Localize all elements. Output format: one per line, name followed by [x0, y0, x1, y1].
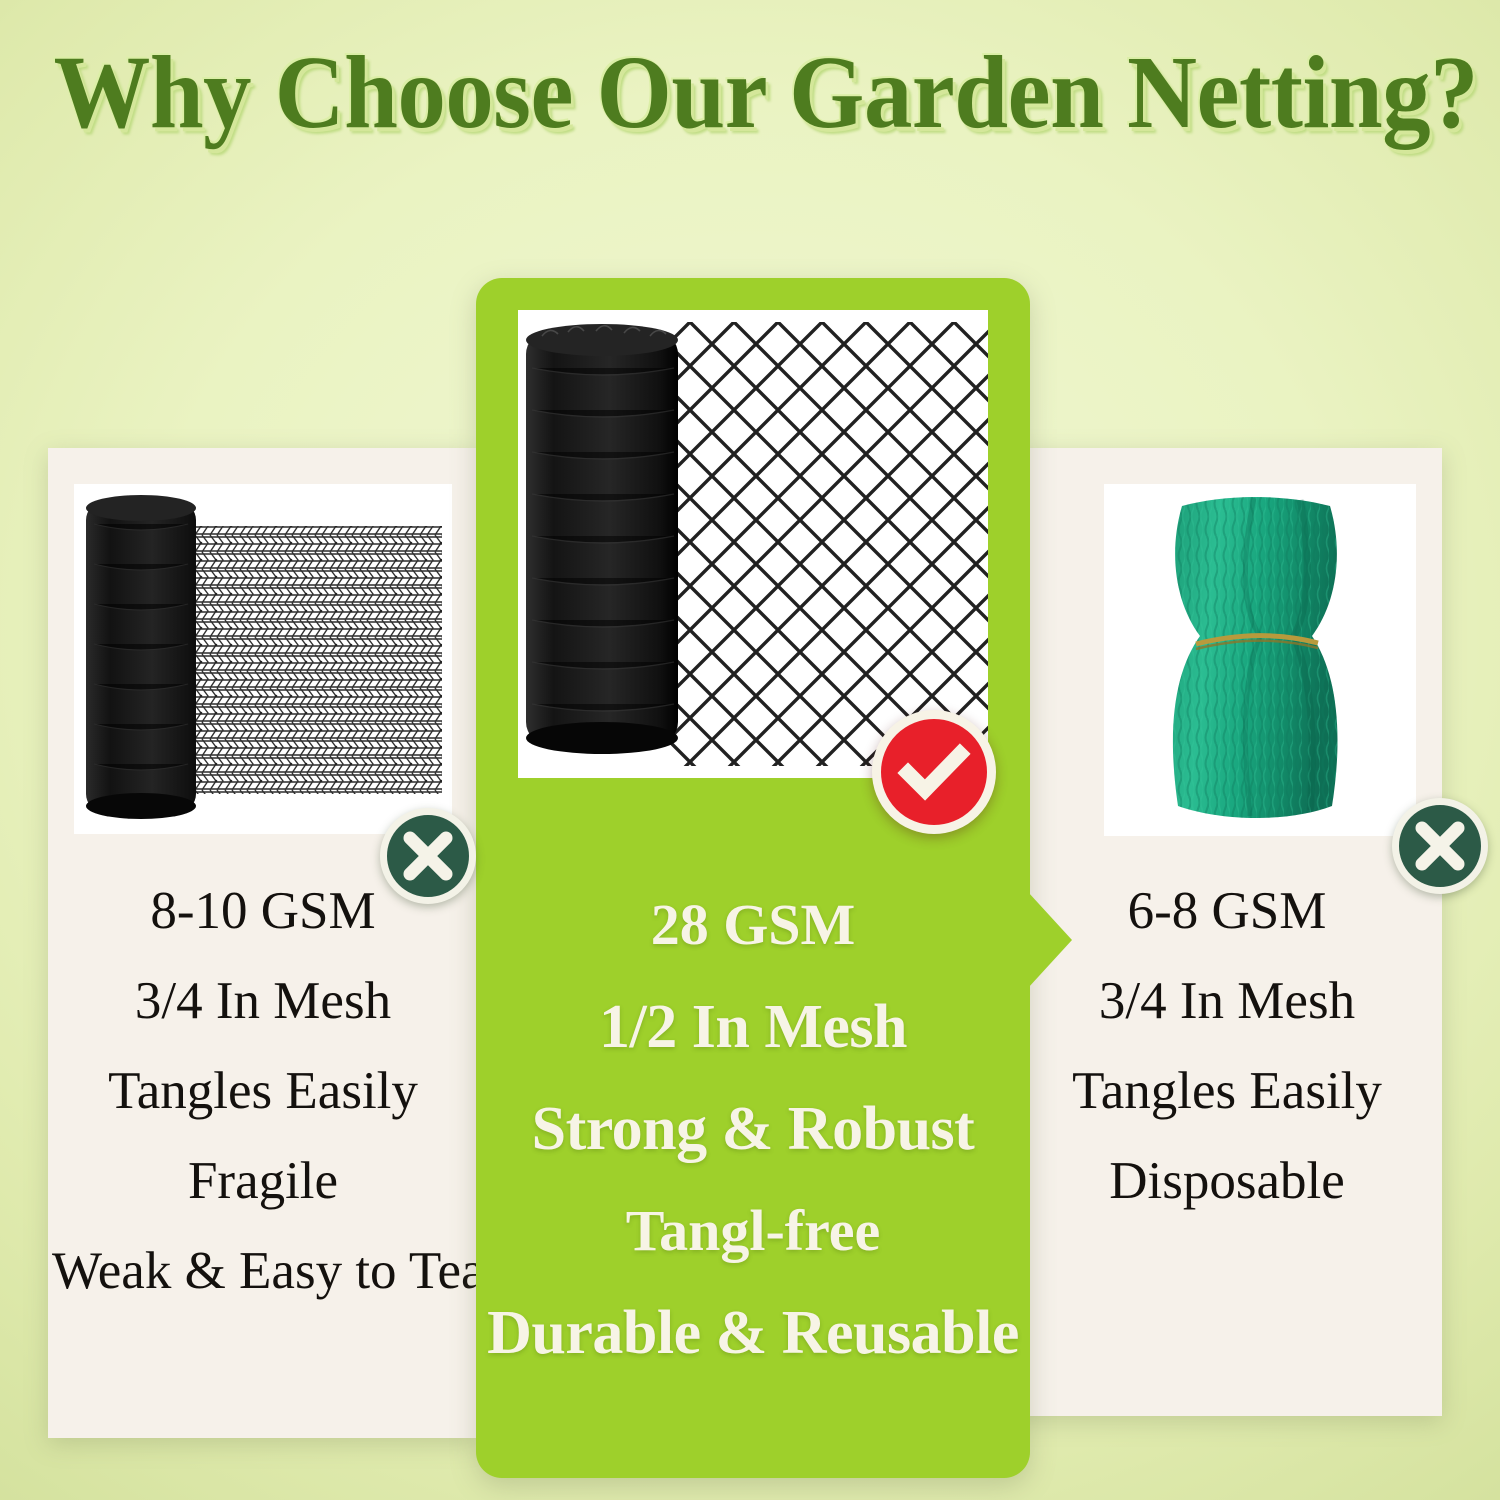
spec-line: Tangles Easily — [52, 1046, 474, 1136]
spec-line: Tangles Easily — [1018, 1046, 1436, 1136]
our-product-spec-list: 28 GSM 1/2 In Mesh Strong & Robust Tangl… — [476, 874, 1030, 1384]
x-mark-icon — [399, 827, 457, 885]
check-mark-icon — [894, 732, 974, 812]
x-mark-badge-right — [1392, 798, 1488, 894]
spec-line: Strong & Robust — [482, 1078, 1024, 1180]
our-product-image — [518, 310, 988, 778]
black-netting-roll-fine-mesh-icon — [74, 484, 452, 834]
x-mark-icon — [1411, 817, 1469, 875]
spec-line: 1/2 In Mesh — [482, 976, 1024, 1078]
our-product-card: 28 GSM 1/2 In Mesh Strong & Robust Tangl… — [476, 278, 1030, 1478]
competitor-left-card: 8-10 GSM 3/4 In Mesh Tangles Easily Frag… — [48, 448, 478, 1438]
competitor-right-product-image — [1104, 484, 1416, 836]
competitor-right-spec-list: 6-8 GSM 3/4 In Mesh Tangles Easily Dispo… — [1012, 866, 1442, 1226]
competitor-left-spec-list: 8-10 GSM 3/4 In Mesh Tangles Easily Frag… — [48, 866, 478, 1316]
page-title-text: Why Choose Our Garden Netting? — [54, 38, 1478, 147]
competitor-left-product-image — [74, 484, 452, 834]
spec-line: Tangl-free — [482, 1180, 1024, 1282]
spec-line: Weak & Easy to Tear — [52, 1226, 474, 1316]
infographic-root: Why Choose Our Garden Netting? — [0, 0, 1500, 1500]
spec-line: 3/4 In Mesh — [52, 956, 474, 1046]
page-title: Why Choose Our Garden Netting? — [0, 38, 1500, 147]
spec-line: Disposable — [1018, 1136, 1436, 1226]
spec-line: 3/4 In Mesh — [1018, 956, 1436, 1046]
spec-line: 28 GSM — [482, 874, 1024, 976]
card-pointer-arrow-icon — [1028, 892, 1072, 988]
spec-line: Fragile — [52, 1136, 474, 1226]
spec-line: 6-8 GSM — [1018, 866, 1436, 956]
x-mark-badge-left — [380, 808, 476, 904]
black-netting-roll-diamond-mesh-icon — [518, 310, 988, 778]
green-netting-bundle-icon — [1104, 484, 1416, 836]
spec-line: Durable & Reusable — [482, 1282, 1024, 1384]
check-mark-badge — [872, 710, 996, 834]
competitor-right-card: 6-8 GSM 3/4 In Mesh Tangles Easily Dispo… — [1012, 448, 1442, 1416]
